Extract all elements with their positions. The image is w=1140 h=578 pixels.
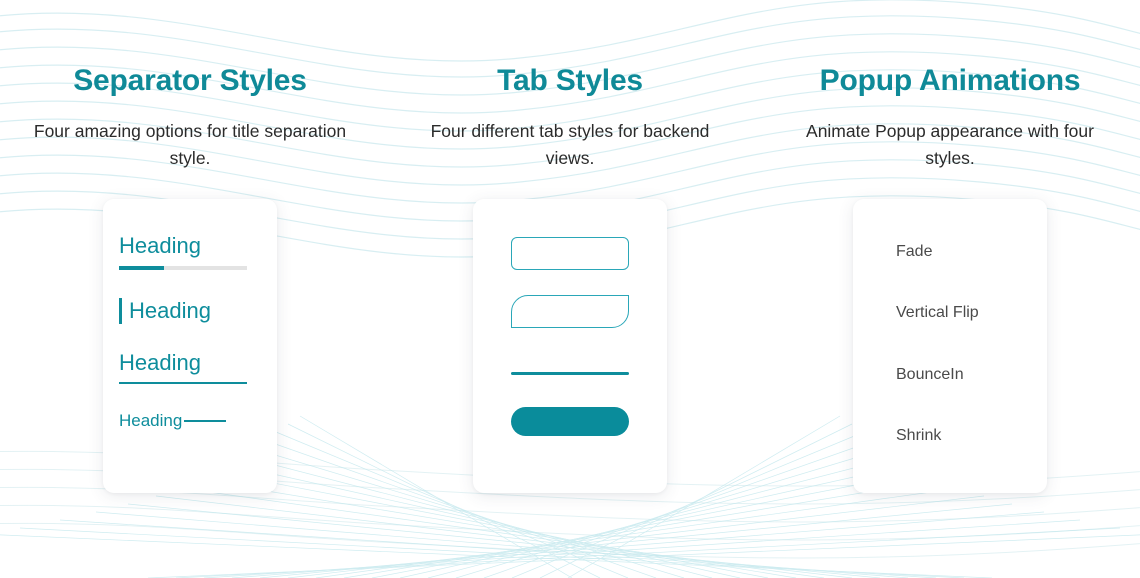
separator-heading-label: Heading bbox=[129, 298, 211, 324]
separator-heading-label: Heading bbox=[119, 233, 261, 259]
list-item[interactable]: Vertical Flip bbox=[896, 303, 1047, 322]
page-title: Tab Styles bbox=[497, 64, 643, 97]
tab-style-rounded-outline[interactable] bbox=[511, 237, 629, 270]
separator-list: Heading Heading Heading Heading bbox=[103, 227, 277, 431]
separator-rule-split bbox=[119, 266, 247, 270]
column-popup-animations: Popup Animations Animate Popup appearanc… bbox=[760, 64, 1140, 578]
separator-heading-label: Heading bbox=[119, 411, 182, 431]
separator-rule-full bbox=[119, 382, 247, 384]
separator-style-full-underline[interactable]: Heading bbox=[119, 350, 261, 384]
separator-styles-card: Heading Heading Heading Heading bbox=[103, 199, 277, 493]
list-item[interactable]: Fade bbox=[896, 242, 1047, 261]
feature-columns: Separator Styles Four amazing options fo… bbox=[0, 0, 1140, 578]
tab-style-filled-pill[interactable] bbox=[511, 407, 629, 436]
tab-list bbox=[473, 199, 667, 436]
column-subtitle: Four different tab styles for backend vi… bbox=[405, 118, 735, 171]
column-separator-styles: Separator Styles Four amazing options fo… bbox=[0, 64, 380, 578]
page-title: Popup Animations bbox=[820, 64, 1081, 97]
column-subtitle: Four amazing options for title separatio… bbox=[25, 118, 355, 171]
page-title: Separator Styles bbox=[73, 64, 307, 97]
column-subtitle: Animate Popup appearance with four style… bbox=[785, 118, 1115, 171]
list-item[interactable]: BounceIn bbox=[896, 365, 1047, 384]
separator-rule-inline bbox=[184, 420, 226, 422]
separator-heading-label: Heading bbox=[119, 350, 261, 376]
tab-styles-card bbox=[473, 199, 667, 493]
tab-style-diagonal-rounded-outline[interactable] bbox=[511, 295, 629, 328]
separator-style-inline-rule[interactable]: Heading bbox=[119, 411, 261, 431]
list-item[interactable]: Shrink bbox=[896, 426, 1047, 445]
column-tab-styles: Tab Styles Four different tab styles for… bbox=[380, 64, 760, 578]
separator-style-left-bar[interactable]: Heading bbox=[119, 298, 261, 324]
popup-animations-card: Fade Vertical Flip BounceIn Shrink bbox=[853, 199, 1047, 493]
separator-vertical-bar bbox=[119, 298, 122, 324]
tab-style-underline-bar[interactable] bbox=[511, 372, 629, 375]
popup-animation-list: Fade Vertical Flip BounceIn Shrink bbox=[853, 199, 1047, 445]
separator-style-split-rule[interactable]: Heading bbox=[119, 233, 261, 270]
